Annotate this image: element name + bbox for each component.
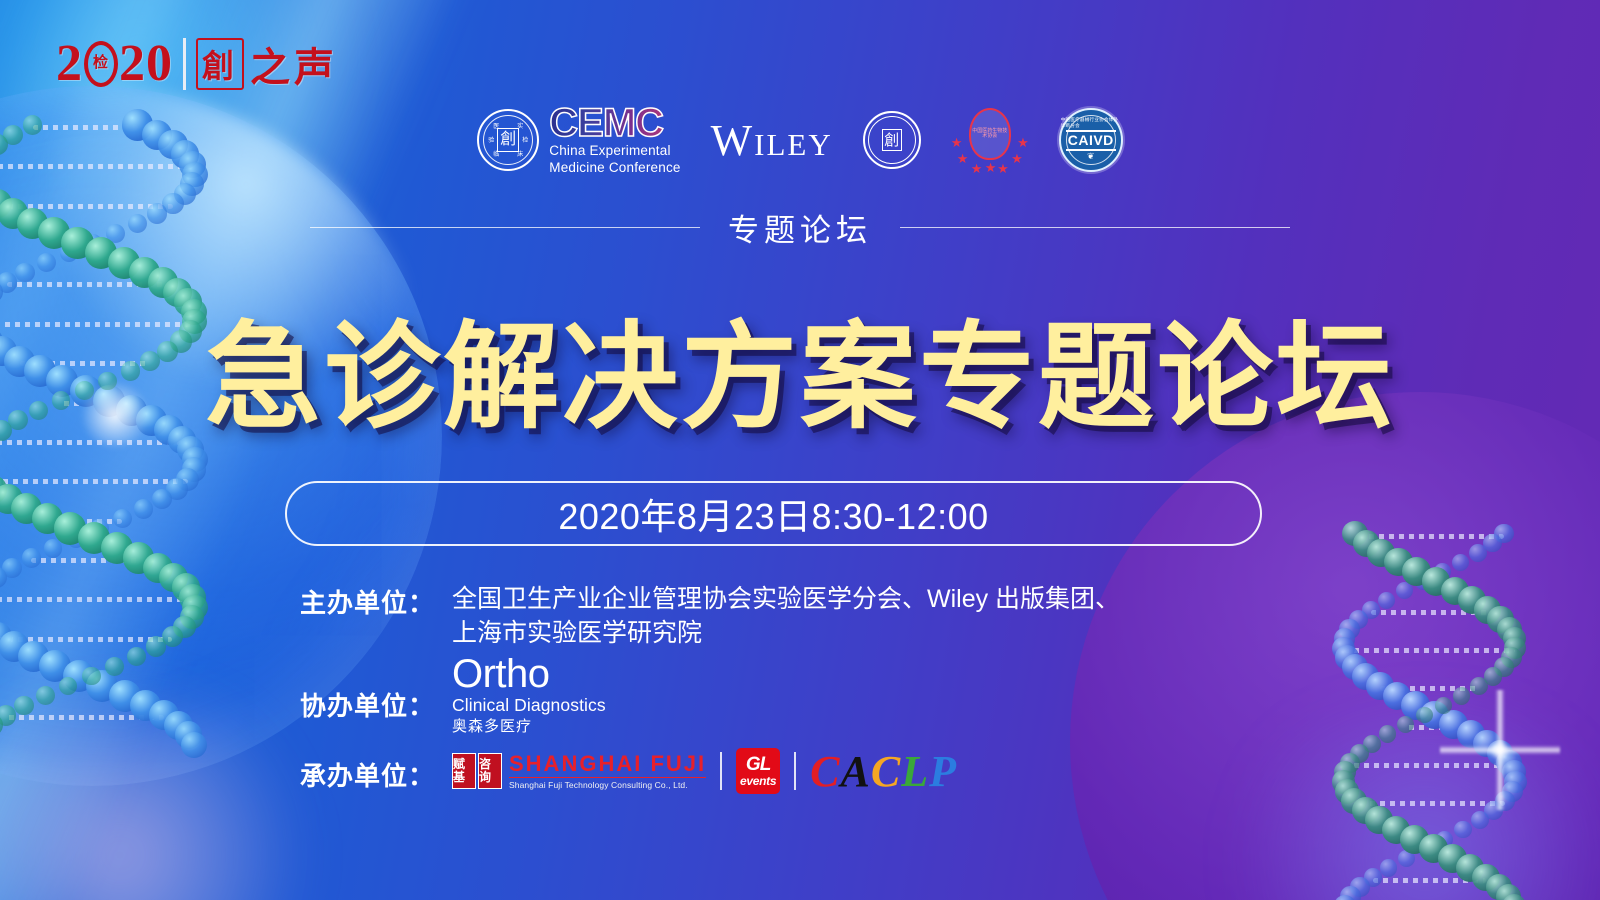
- poster-canvas: 2 检 2 0 創 之声 創 医 实 验 检 临 床: [0, 0, 1600, 900]
- cemc-seal-icon: 創 医 实 验 检 临 床: [477, 109, 539, 171]
- gl-events-line2: events: [740, 775, 776, 787]
- cemc-tick-4: 检: [522, 138, 528, 144]
- coorganizer-label: 协办单位：: [300, 664, 452, 723]
- fuji-seal-icon: 赋基 咨询: [452, 753, 502, 789]
- fuji-seal-char-2: 咨询: [478, 753, 502, 789]
- fuji-wordmark: SHANGHAI FUJI: [509, 752, 706, 777]
- association-seal-icon: 創: [863, 111, 921, 169]
- ortho-chinese-name: 奥森多医疗: [452, 719, 606, 734]
- host-value-line2: 上海市实验医学研究院: [452, 617, 1120, 651]
- brand-char-chuang: 創: [196, 38, 244, 90]
- fuji-box2-text: 咨询: [479, 758, 501, 783]
- association-seal-char: 創: [882, 129, 902, 151]
- gl-events-line1: GL: [746, 755, 770, 774]
- undertaker-label: 承办单位：: [300, 750, 452, 793]
- section-rule-right: [900, 227, 1290, 228]
- cemc-tick-3: 验: [488, 138, 494, 144]
- organizer-row-undertaker: 承办单位： 赋基 咨询 SHANGHAI FUJI Shanghai Fuji …: [300, 746, 1300, 797]
- emblem-star-1: ★: [951, 136, 963, 149]
- page-title: 急诊解决方案专题论坛: [0, 283, 1600, 451]
- cemc-subtitle-line1: China Experimental: [549, 142, 680, 159]
- emblem-star-3: ★: [957, 152, 969, 165]
- brand-chinese: 創 之声: [196, 35, 338, 93]
- organizer-row-host: 主办单位： 全国卫生产业企业管理协会实验医学分会、Wiley 出版集团、 上海市…: [300, 583, 1300, 650]
- poster-content: 2 检 2 0 創 之声 創 医 实 验 检 临 床: [0, 0, 1600, 900]
- ortho-subtitle: Clinical Diagnostics: [452, 697, 606, 715]
- cemc-wordmark: CEMC: [549, 104, 680, 142]
- caclp-logo: C A C L P: [810, 746, 957, 797]
- cemc-tick-2: 实: [517, 124, 523, 130]
- star-emblem-logo: 中国医药生物技术协会 ★ ★ ★ ★ ★ ★ ★: [951, 108, 1029, 172]
- emblem-inner-text: 中国医药生物技术协会: [971, 129, 1009, 140]
- organizers-block: 主办单位： 全国卫生产业企业管理协会实验医学分会、Wiley 出版集团、 上海市…: [300, 583, 1300, 797]
- host-value-line1: 全国卫生产业企业管理协会实验医学分会、Wiley 出版集团、: [452, 583, 1120, 617]
- fuji-text-block: SHANGHAI FUJI Shanghai Fuji Technology C…: [509, 752, 706, 789]
- fuji-box1-text: 赋基: [453, 758, 475, 783]
- caivd-wordmark: CAIVD: [1066, 130, 1116, 151]
- brand-seal-icon: 检: [84, 41, 118, 87]
- host-value: 全国卫生产业企业管理协会实验医学分会、Wiley 出版集团、 上海市实验医学研究…: [452, 583, 1120, 650]
- emblem-star-7: ★: [985, 161, 997, 174]
- shanghai-fuji-logo: 赋基 咨询 SHANGHAI FUJI Shanghai Fuji Techno…: [452, 752, 706, 789]
- brand-year-digit-4: 0: [146, 34, 173, 93]
- ortho-logo: Ortho Clinical Diagnostics 奥森多医疗: [452, 654, 606, 734]
- date-banner: 2020年8月23日8:30-12:00: [285, 481, 1262, 546]
- gl-events-logo: GL events: [736, 748, 780, 794]
- cemc-logo: 創 医 实 验 检 临 床 CEMC China Experimental Me…: [477, 104, 680, 177]
- brand-year-digit-3: 2: [119, 34, 146, 93]
- cemc-tick-1: 医: [493, 124, 499, 130]
- logo-row: 創 医 实 验 检 临 床 CEMC China Experimental Me…: [0, 104, 1600, 177]
- caclp-divider: [794, 752, 796, 790]
- undertaker-divider: [720, 752, 722, 790]
- fuji-full-name: Shanghai Fuji Technology Consulting Co.,…: [509, 780, 706, 790]
- brand-logo: 2 检 2 0 創 之声: [56, 34, 338, 93]
- caclp-letter-2: A: [840, 746, 870, 797]
- cemc-tick-5: 临: [493, 152, 499, 158]
- brand-char-suffix: 之声: [250, 35, 338, 93]
- brand-divider: [183, 38, 186, 90]
- cemc-text-block: CEMC China Experimental Medicine Confere…: [549, 104, 680, 177]
- fuji-seal-char-1: 赋基: [452, 753, 476, 789]
- ortho-wordmark: Ortho: [452, 654, 606, 694]
- cemc-subtitle-line2: Medicine Conference: [549, 159, 680, 176]
- caclp-letter-5: P: [929, 746, 957, 797]
- emblem-bulb-icon: 中国医药生物技术协会: [969, 108, 1011, 160]
- organizer-row-coorganizer: 协办单位： Ortho Clinical Diagnostics 奥森多医疗: [300, 654, 1300, 734]
- emblem-star-5: ★: [971, 162, 983, 175]
- brand-year-digit-1: 2: [56, 34, 83, 93]
- date-text: 2020年8月23日8:30-12:00: [558, 488, 988, 540]
- caclp-letter-4: L: [901, 746, 929, 797]
- cemc-seal-char: 創: [497, 128, 519, 152]
- host-label: 主办单位：: [300, 583, 452, 620]
- caclp-letter-3: C: [871, 746, 901, 797]
- caivd-arc-text: 中国医疗器械行业协会体外诊断分会: [1061, 117, 1121, 129]
- section-rule-left: [310, 227, 700, 228]
- caivd-logo: 中国医疗器械行业协会体外诊断分会 CAIVD ❦: [1059, 108, 1123, 172]
- brand-year: 2 检 2 0: [56, 34, 173, 93]
- caivd-leaf-icon: ❦: [1087, 151, 1095, 162]
- emblem-star-2: ★: [1017, 136, 1029, 149]
- emblem-star-4: ★: [1011, 152, 1023, 165]
- wiley-logo: Wiley: [711, 115, 833, 166]
- section-title: 专题论坛: [0, 205, 1600, 250]
- section-title-label: 专题论坛: [728, 205, 872, 250]
- emblem-star-6: ★: [997, 162, 1009, 175]
- cemc-tick-6: 床: [517, 152, 523, 158]
- caclp-letter-1: C: [810, 746, 840, 797]
